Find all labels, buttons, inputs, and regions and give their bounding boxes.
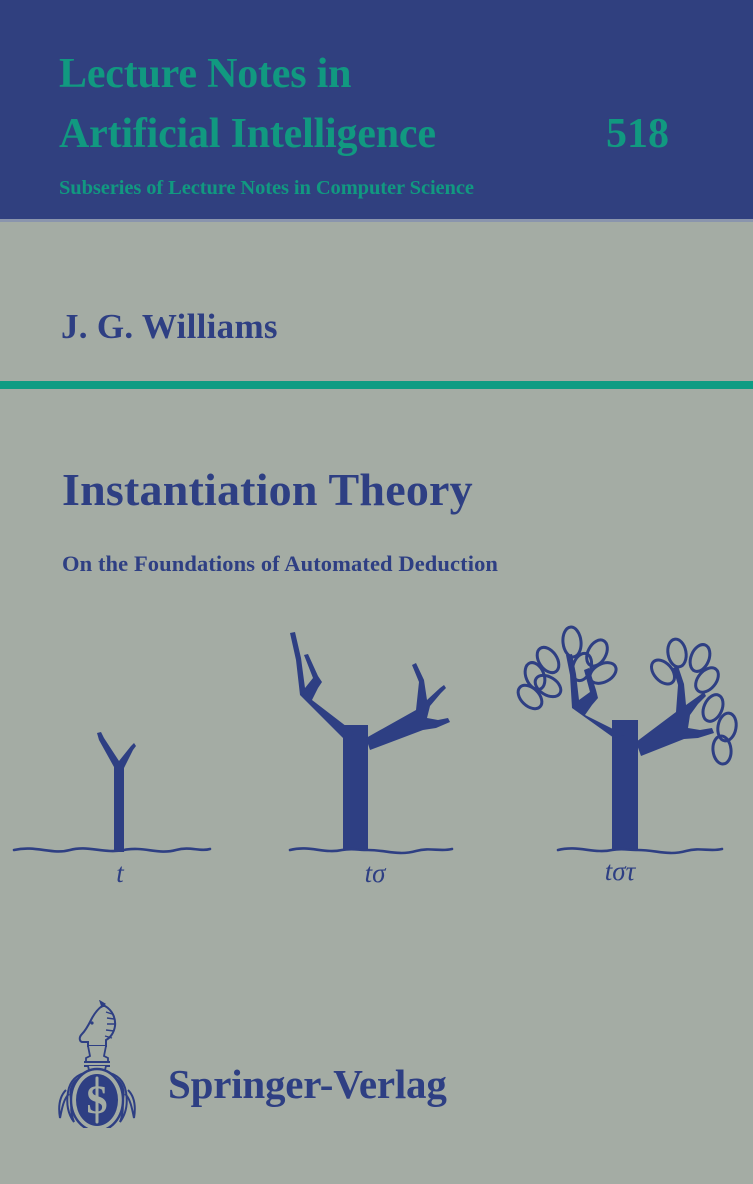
volume-number: 518 <box>606 110 669 158</box>
tree-label-t-sigma: tσ <box>330 858 420 889</box>
tree-branched <box>290 632 452 853</box>
author-name: J. G. Williams <box>61 307 278 347</box>
cover-illustration: t tσ tστ <box>0 600 753 910</box>
banner-underline <box>0 219 753 222</box>
springer-monogram: S <box>71 1069 123 1128</box>
tree-label-t-sigma-tau: tστ <box>565 856 675 887</box>
series-title-line-1: Lecture Notes in <box>59 50 351 98</box>
ground-line-2 <box>290 848 452 853</box>
horizontal-rule <box>0 381 753 389</box>
tree-sapling <box>14 732 210 852</box>
publisher-block: S Springer-Verlag <box>58 1000 458 1130</box>
book-subtitle: On the Foundations of Automated Deductio… <box>62 551 498 577</box>
ground-line-3 <box>558 848 722 853</box>
publisher-name: Springer-Verlag <box>168 1060 447 1108</box>
series-banner: Lecture Notes in Artificial Intelligence… <box>0 0 753 219</box>
tree-leafy <box>514 626 739 853</box>
tree-label-t: t <box>85 858 155 889</box>
book-title: Instantiation Theory <box>62 463 473 516</box>
series-title-line-2: Artificial Intelligence <box>59 110 436 158</box>
book-cover: Lecture Notes in Artificial Intelligence… <box>0 0 753 1184</box>
springer-knight-logo: S <box>58 1000 158 1128</box>
ground-line-1 <box>14 848 210 851</box>
subseries-label: Subseries of Lecture Notes in Computer S… <box>59 177 474 200</box>
leaf-cluster-left <box>514 626 620 713</box>
